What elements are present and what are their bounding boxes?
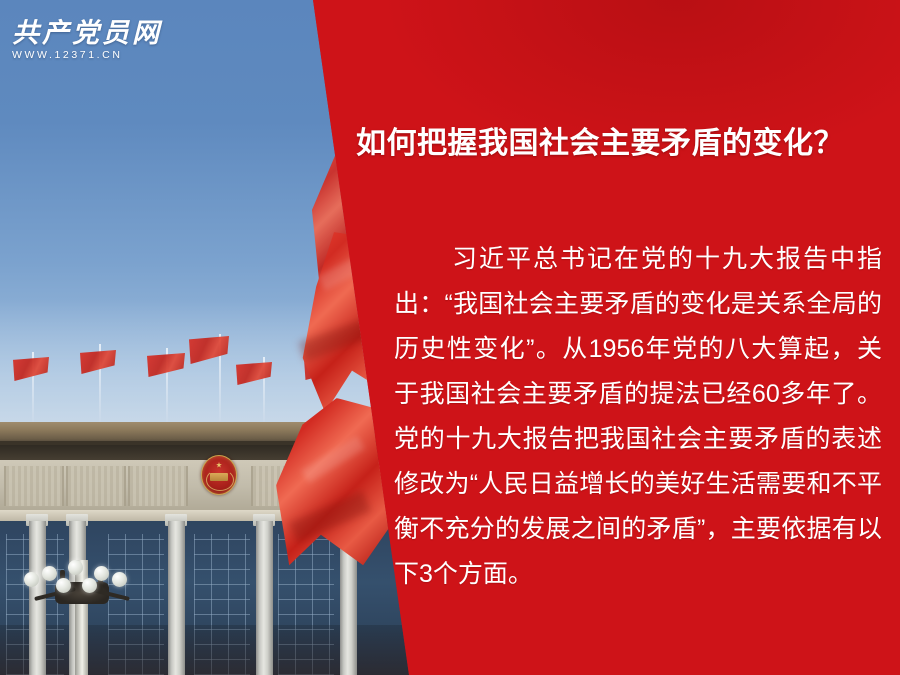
body-paragraph: 习近平总书记在党的十九大报告中指出：“我国社会主要矛盾的变化是关系全局的历史性变… [394, 237, 882, 597]
logo-url: WWW.12371.CN [12, 48, 182, 62]
page-title: 如何把握我国社会主要矛盾的变化？ [356, 124, 876, 164]
logo-wordmark: 共产党员网 [12, 18, 182, 48]
text-layer: 如何把握我国社会主要矛盾的变化？ 习近平总书记在党的十九大报告中指出：“我国社会… [0, 0, 900, 675]
poster-canvas: 如何把握我国社会主要矛盾的变化？ 习近平总书记在党的十九大报告中指出：“我国社会… [0, 0, 900, 675]
site-logo[interactable]: 共产党员网 WWW.12371.CN [12, 18, 182, 66]
